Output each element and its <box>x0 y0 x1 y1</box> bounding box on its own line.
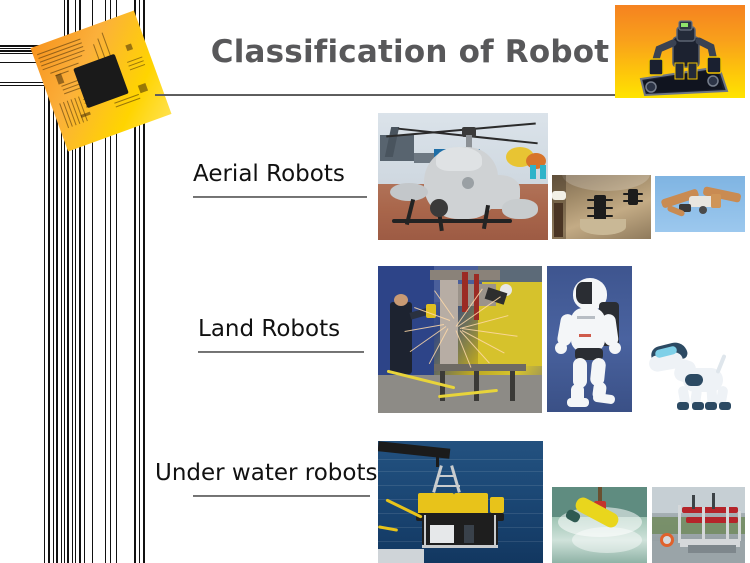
deco-vline <box>56 53 58 563</box>
tracked-robot-logo <box>615 5 745 98</box>
indoor-quadcopter-photo <box>552 175 651 239</box>
category-label: Aerial Robots <box>193 163 367 186</box>
seabed-crawler-photo <box>652 487 745 563</box>
industrial-welding-robot-photo <box>378 266 542 413</box>
fixed-wing-uav-photo <box>655 176 745 232</box>
deco-vline <box>48 48 50 563</box>
category-underline <box>193 196 367 198</box>
deco-vline <box>84 85 85 563</box>
category-label: Land Robots <box>198 318 364 341</box>
category-underwater-robots: Under water robots <box>155 462 377 497</box>
circuit-chip-graphic <box>31 11 172 152</box>
deco-vline <box>53 50 54 563</box>
category-aerial-robots: Aerial Robots <box>193 163 367 198</box>
robot-dog-photo <box>645 338 741 416</box>
rov-submersible-photo <box>378 441 543 563</box>
deco-vline <box>44 45 45 563</box>
category-label: Under water robots <box>155 462 377 485</box>
header-divider <box>155 94 621 96</box>
auv-torpedo-photo <box>552 487 647 563</box>
deco-vline <box>72 82 73 563</box>
robot-logo-icon <box>615 5 745 98</box>
page-title: Classification of Robot <box>200 34 620 70</box>
deco-vline <box>61 62 62 563</box>
decorative-line-art <box>0 0 180 563</box>
category-land-robots: Land Robots <box>198 318 364 353</box>
category-underline <box>198 351 364 353</box>
humanoid-robot-photo <box>547 266 632 412</box>
unmanned-helicopter-photo <box>378 113 548 240</box>
category-underline <box>193 495 370 497</box>
slide-canvas: Classification of Robot Aerial Robots <box>0 0 750 563</box>
